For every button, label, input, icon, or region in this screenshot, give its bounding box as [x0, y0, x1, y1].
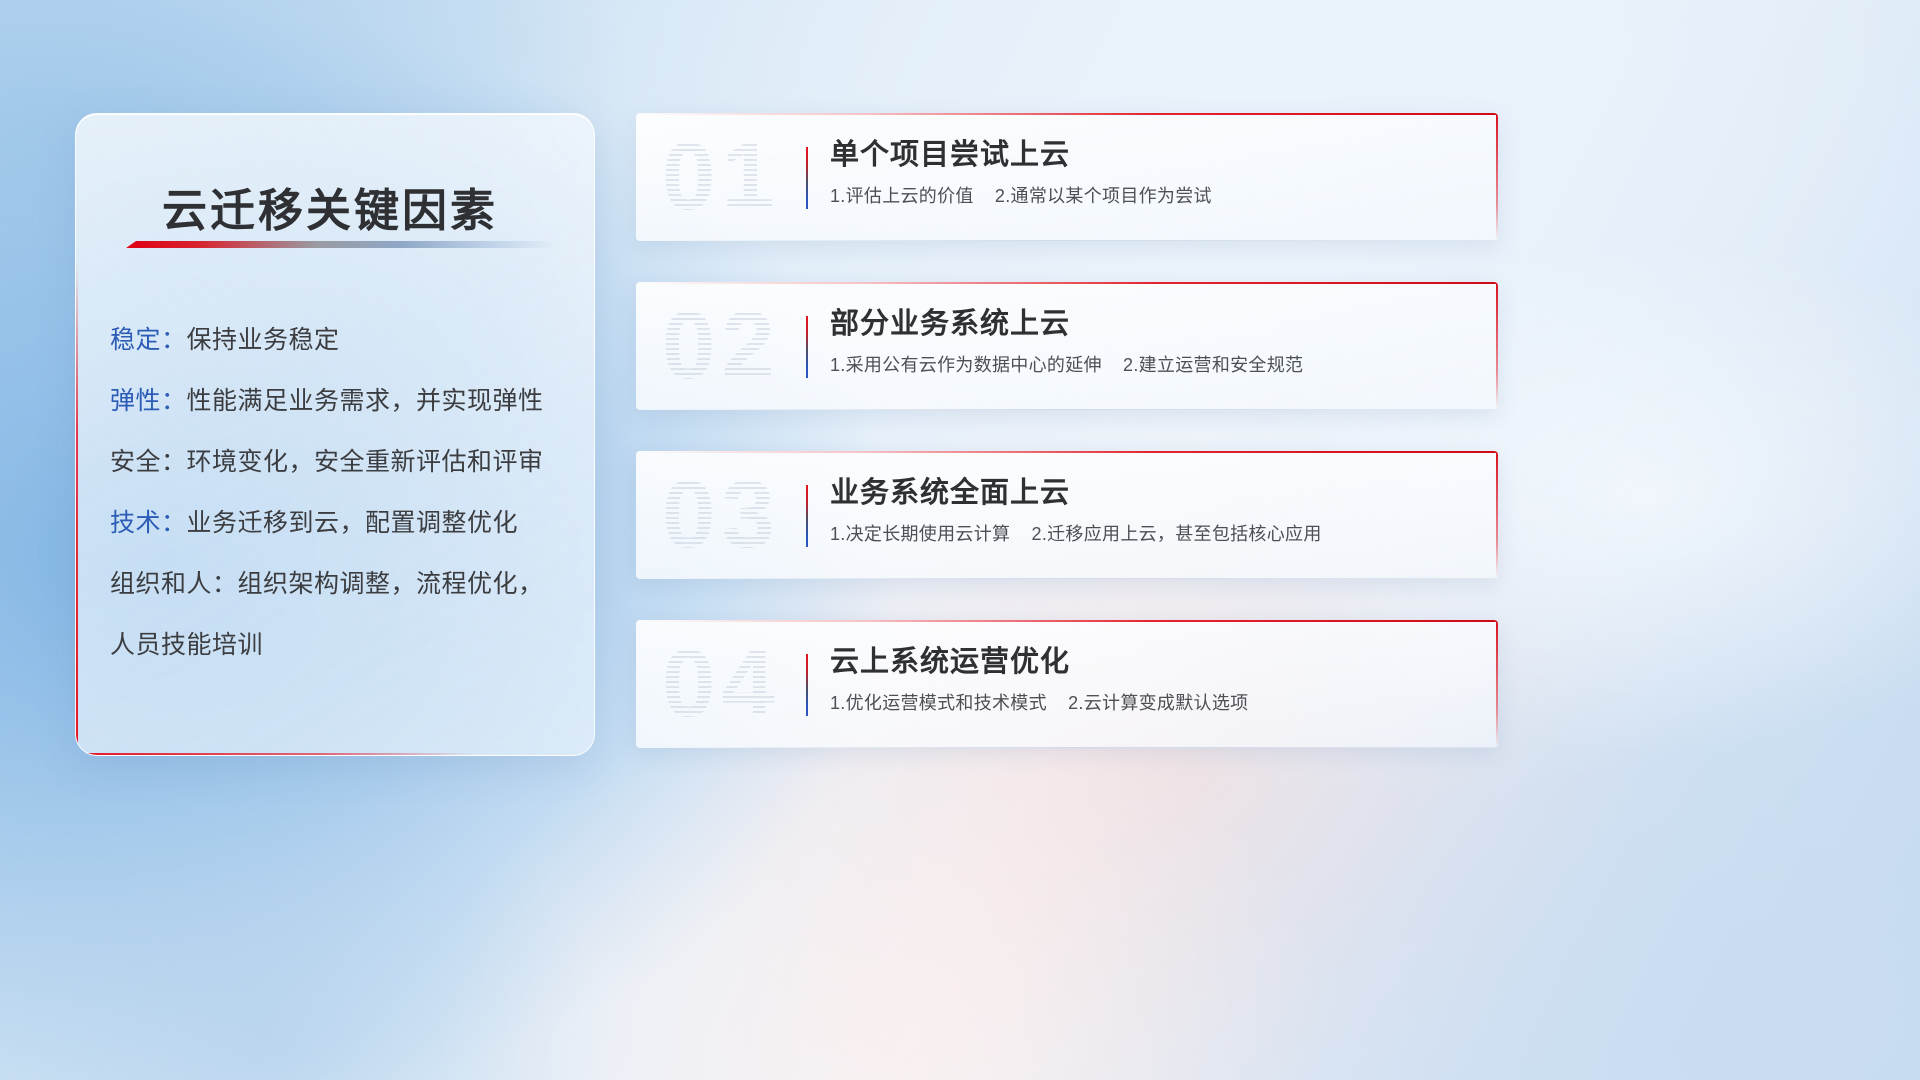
card-bottom-divider: [636, 240, 1498, 241]
panel-left-accent-bar: [76, 264, 78, 755]
factor-value: 性能满足业务需求，并实现弹性: [187, 387, 544, 415]
factor-value: 保持业务稳定: [187, 326, 340, 354]
card-step-number: 03: [662, 467, 781, 563]
card-description: 1.评估上云的价值 2.通常以某个项目作为尝试: [830, 183, 1474, 209]
card-bottom-divider: [636, 578, 1498, 579]
factor-list: 稳定：保持业务稳定弹性：性能满足业务需求，并实现弹性安全：环境变化，安全重新评估…: [110, 310, 574, 676]
factor-row: 弹性：性能满足业务需求，并实现弹性: [110, 371, 574, 432]
card-body: 部分业务系统上云1.采用公有云作为数据中心的延伸 2.建立运营和安全规范: [830, 304, 1474, 378]
card-top-accent-line: [636, 282, 1498, 284]
factor-value: 环境变化，安全重新评估和评审: [187, 448, 544, 476]
card-title: 业务系统全面上云: [830, 473, 1474, 513]
card-title: 部分业务系统上云: [830, 304, 1474, 344]
card-top-accent-line: [636, 451, 1498, 453]
card-body: 业务系统全面上云1.决定长期使用云计算 2.迁移应用上云，甚至包括核心应用: [830, 473, 1474, 547]
card-step-number: 04: [662, 636, 781, 732]
card-divider-bar: [806, 316, 808, 378]
card-description: 1.决定长期使用云计算 2.迁移应用上云，甚至包括核心应用: [830, 521, 1474, 547]
factor-row: 人员技能培训: [110, 615, 574, 676]
stage-card[interactable]: 04云上系统运营优化1.优化运营模式和技术模式 2.云计算变成默认选项: [636, 620, 1498, 748]
factor-value: 组织架构调整，流程优化，: [238, 570, 544, 598]
card-divider-bar: [806, 654, 808, 716]
card-right-accent-line: [1496, 451, 1498, 579]
card-body: 云上系统运营优化1.优化运营模式和技术模式 2.云计算变成默认选项: [830, 642, 1474, 716]
card-top-accent-line: [636, 620, 1498, 622]
factor-row: 技术：业务迁移到云，配置调整优化: [110, 493, 574, 554]
card-step-number: 02: [662, 298, 781, 394]
card-description: 1.优化运营模式和技术模式 2.云计算变成默认选项: [830, 690, 1474, 716]
stage-card[interactable]: 03业务系统全面上云1.决定长期使用云计算 2.迁移应用上云，甚至包括核心应用: [636, 451, 1498, 579]
key-factors-panel: 云迁移关键因素 稳定：保持业务稳定弹性：性能满足业务需求，并实现弹性安全：环境变…: [75, 113, 595, 756]
factor-value: 业务迁移到云，配置调整优化: [187, 509, 519, 537]
card-step-number: 01: [662, 129, 781, 225]
card-divider-bar: [806, 485, 808, 547]
card-right-accent-line: [1496, 113, 1498, 241]
factor-row: 稳定：保持业务稳定: [110, 310, 574, 371]
factor-label: 安全：: [110, 448, 187, 476]
factor-label: 弹性：: [110, 387, 187, 415]
card-bottom-divider: [636, 747, 1498, 748]
title-underline-gradient: [126, 241, 556, 248]
stage-card[interactable]: 02部分业务系统上云1.采用公有云作为数据中心的延伸 2.建立运营和安全规范: [636, 282, 1498, 410]
factor-row: 安全：环境变化，安全重新评估和评审: [110, 432, 574, 493]
factor-label: 稳定：: [110, 326, 187, 354]
panel-bottom-accent-bar: [76, 753, 474, 755]
card-title: 单个项目尝试上云: [830, 135, 1474, 175]
stage-card-list: 01单个项目尝试上云1.评估上云的价值 2.通常以某个项目作为尝试02部分业务系…: [636, 113, 1498, 789]
factor-row: 组织和人：组织架构调整，流程优化，: [110, 554, 574, 615]
factor-label: 组织和人：: [110, 570, 238, 598]
stage-card[interactable]: 01单个项目尝试上云1.评估上云的价值 2.通常以某个项目作为尝试: [636, 113, 1498, 241]
card-bottom-divider: [636, 409, 1498, 410]
card-title: 云上系统运营优化: [830, 642, 1474, 682]
factor-value: 人员技能培训: [110, 631, 263, 659]
card-right-accent-line: [1496, 282, 1498, 410]
card-right-accent-line: [1496, 620, 1498, 748]
card-top-accent-line: [636, 113, 1498, 115]
card-divider-bar: [806, 147, 808, 209]
card-description: 1.采用公有云作为数据中心的延伸 2.建立运营和安全规范: [830, 352, 1474, 378]
card-body: 单个项目尝试上云1.评估上云的价值 2.通常以某个项目作为尝试: [830, 135, 1474, 209]
page-title: 云迁移关键因素: [162, 174, 498, 239]
factor-label: 技术：: [110, 509, 187, 537]
